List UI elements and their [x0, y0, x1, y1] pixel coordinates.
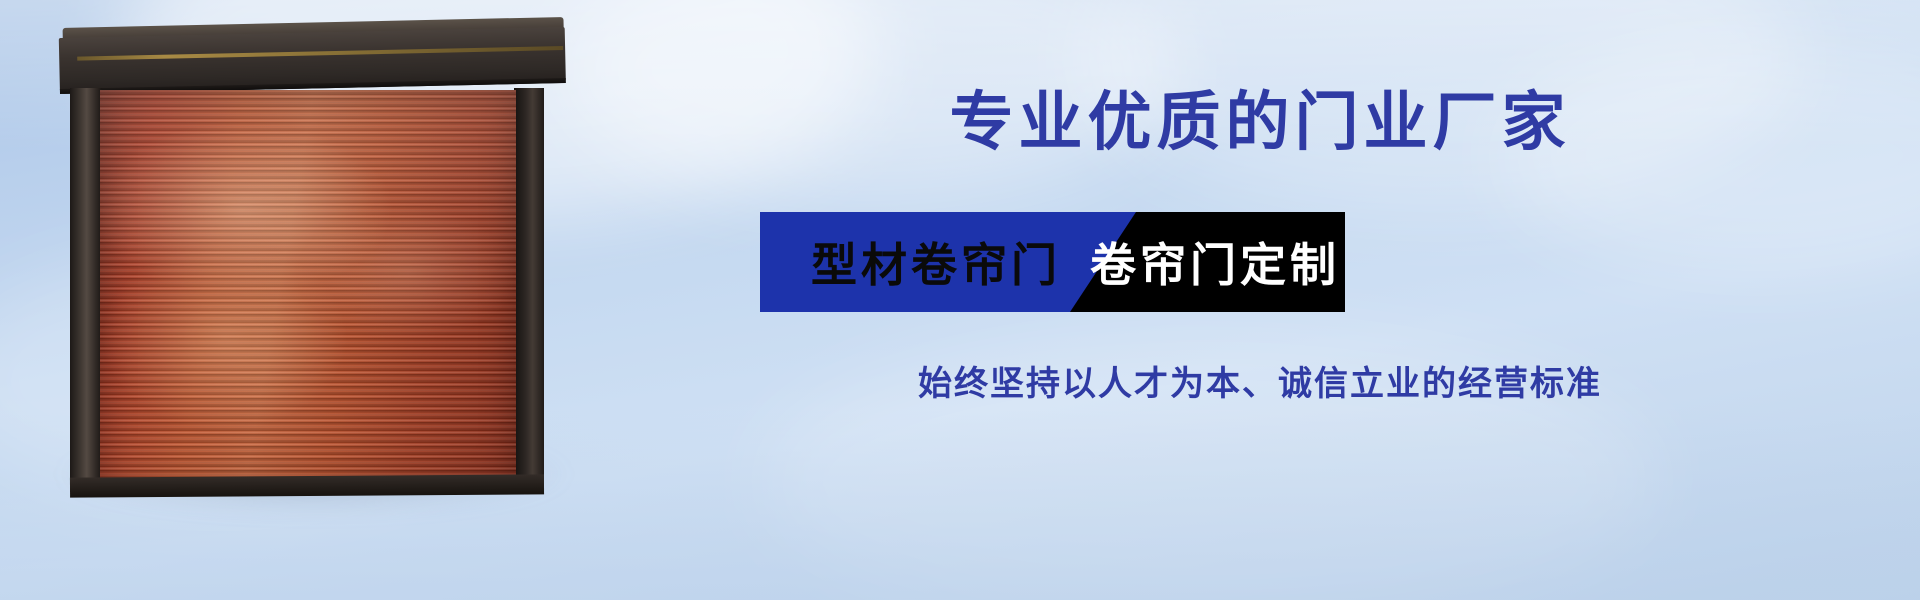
- door-head-gold-trim: [77, 46, 563, 61]
- banner-copy-block: 专业优质的门业厂家 型材卷帘门 卷帘门定制 始终坚持以人才为本、诚信立业的经营标…: [600, 0, 1920, 600]
- door-head-housing: [58, 11, 565, 94]
- banner-headline: 专业优质的门业厂家: [600, 88, 1920, 160]
- badge-secondary-label: 卷帘门定制: [1090, 212, 1340, 312]
- banner-badge-strip: 型材卷帘门 卷帘门定制: [760, 212, 1345, 312]
- product-image-rolling-shutter-door: [44, 14, 574, 492]
- door-slat-curtain: [100, 90, 516, 488]
- banner-subtitle: 始终坚持以人才为本、诚信立业的经营标准: [600, 356, 1920, 405]
- door-head-face: [59, 27, 566, 94]
- door-jamb-left: [70, 88, 102, 492]
- door-jamb-right: [514, 88, 544, 492]
- badge-primary-label: 型材卷帘门: [786, 212, 1086, 312]
- door-slat-highlight: [100, 90, 516, 488]
- promo-banner: 专业优质的门业厂家 型材卷帘门 卷帘门定制 始终坚持以人才为本、诚信立业的经营标…: [0, 0, 1920, 600]
- door-sill: [70, 474, 544, 497]
